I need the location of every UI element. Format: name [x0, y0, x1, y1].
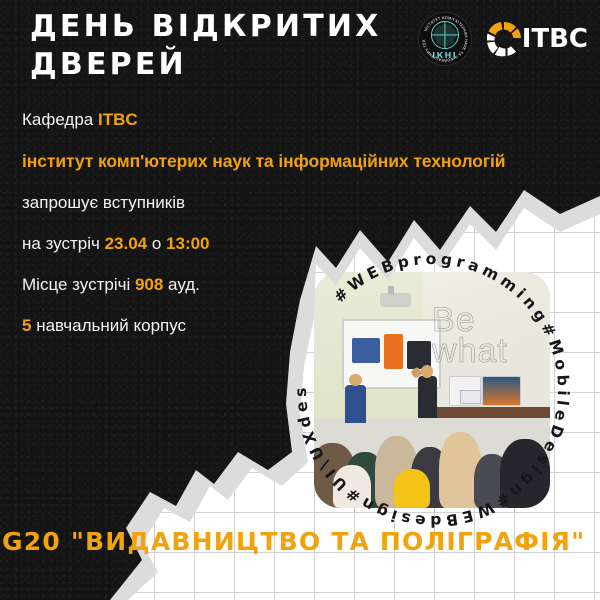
bottom-banner: G20 "ВИДАВНИЦТВО ТА ПОЛІГРАФІЯ" [0, 527, 600, 556]
building-line: 5 навчальний корпус [22, 316, 582, 336]
meeting-date: 23.04 [105, 234, 148, 253]
department-name: ITBC [98, 110, 138, 129]
ikni-seal-logo: ІНСТИТУТ КОМП'ЮТЕРНИХ НАУК ТА ІНФОРМАЦІЙ… [418, 12, 472, 66]
place-prefix: Місце зустрічі [22, 275, 135, 294]
place-suffix: ауд. [163, 275, 200, 294]
poster-copy: Кафедра ITBC інститут комп'ютерих наук т… [22, 110, 582, 357]
itbc-logo-label: ITBC [522, 24, 588, 54]
institute-line: інститут комп'ютерих наук та інформаційн… [22, 151, 582, 172]
place-line: Місце зустрічі 908 ауд. [22, 275, 582, 295]
itbc-mark-icon [482, 17, 526, 61]
poster-root: Be what #WEBp [0, 0, 600, 600]
itbc-logo: ITBC [482, 17, 588, 61]
logo-group: ІНСТИТУТ КОМП'ЮТЕРНИХ НАУК ТА ІНФОРМАЦІЙ… [418, 12, 588, 66]
globe-icon [431, 21, 459, 49]
page-title: ДЕНЬ ВІДКРИТИХ ДВЕРЕЙ [30, 8, 430, 83]
department-line: Кафедра ITBC [22, 110, 582, 130]
headline-line-2: ДВЕРЕЙ [30, 46, 430, 84]
meeting-time: 13:00 [166, 234, 209, 253]
building-suffix: навчальний корпус [31, 316, 186, 335]
place-room: 908 [135, 275, 163, 294]
invite-line: запрошує вступників [22, 193, 582, 213]
ikni-seal-label: ІКНІ [419, 51, 471, 60]
meeting-prefix: на зустріч [22, 234, 105, 253]
meeting-line: на зустріч 23.04 о 13:00 [22, 234, 582, 254]
meeting-mid: о [147, 234, 166, 253]
department-prefix: Кафедра [22, 110, 98, 129]
headline-line-1: ДЕНЬ ВІДКРИТИХ [30, 9, 382, 44]
